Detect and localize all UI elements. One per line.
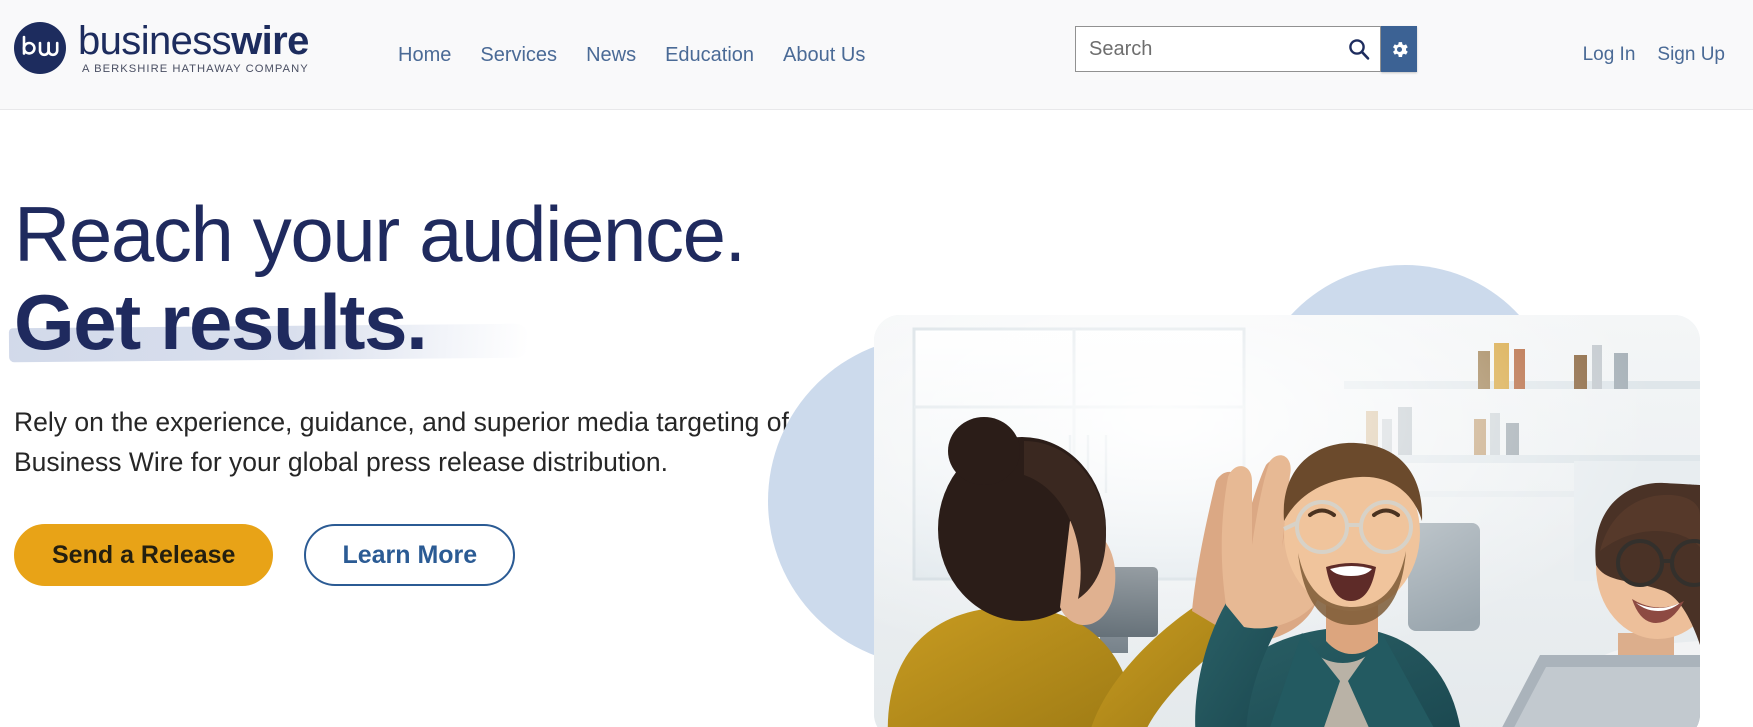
search-icon[interactable] [1344,34,1374,64]
wordmark-wire: wire [231,19,309,63]
hero-subtext: Rely on the experience, guidance, and su… [14,402,814,482]
send-a-release-button[interactable]: Send a Release [14,524,273,586]
log-in-link[interactable]: Log In [1583,44,1636,66]
search-field[interactable] [1075,26,1381,72]
brand-wordmark-group: businesswire A BERKSHIRE HATHAWAY COMPAN… [78,21,309,76]
nav-item-about-us[interactable]: About Us [783,44,865,67]
hero-photo [874,315,1700,727]
hero-copy: Reach your audience. Get results. Rely o… [14,190,824,586]
primary-navigation: Home Services News Education About Us [398,0,865,110]
learn-more-button[interactable]: Learn More [304,524,515,586]
nav-item-services[interactable]: Services [480,44,557,67]
brand-wordmark: businesswire [78,21,309,61]
account-links: Log In Sign Up [1583,0,1725,110]
hero-visual [830,110,1753,727]
wordmark-business: business [78,19,231,63]
search-group [1075,26,1417,72]
gear-icon[interactable] [1381,26,1417,72]
hero-headline-line-2: Get results. [14,278,426,366]
hero-actions: Send a Release Learn More [14,524,824,586]
nav-item-home[interactable]: Home [398,44,451,67]
nav-item-news[interactable]: News [586,44,636,67]
hero-headline-line-2-text: Get results. [14,278,426,366]
hero-section: Reach your audience. Get results. Rely o… [0,110,1753,727]
nav-item-education[interactable]: Education [665,44,754,67]
search-input[interactable] [1076,27,1380,71]
site-header: businesswire A BERKSHIRE HATHAWAY COMPAN… [0,0,1753,110]
brand-logo[interactable]: businesswire A BERKSHIRE HATHAWAY COMPAN… [14,17,309,79]
hero-headline: Reach your audience. Get results. [14,190,824,366]
hero-headline-line-1: Reach your audience. [14,190,824,278]
sign-up-link[interactable]: Sign Up [1657,44,1725,66]
bw-monogram-icon [14,22,66,74]
brand-tagline: A BERKSHIRE HATHAWAY COMPANY [78,63,309,76]
